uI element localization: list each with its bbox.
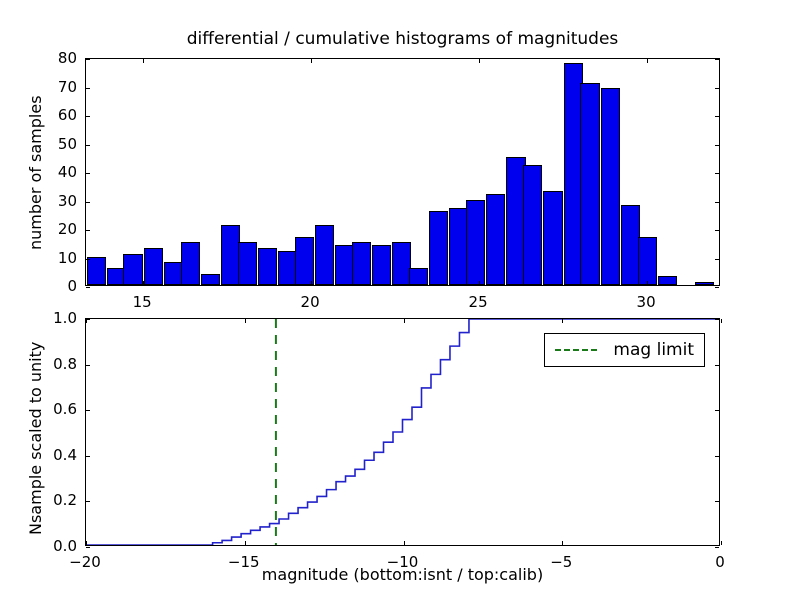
y-tick [715,501,719,502]
y-tick [86,547,90,548]
y-tick [715,365,719,366]
x-tick-label: 20 [301,293,320,311]
y-tick [715,173,719,174]
legend: mag limit [544,333,705,367]
y-tick [86,365,90,366]
x-tick-label: 25 [469,293,488,311]
x-tick [86,541,87,545]
histogram-bar [315,225,334,285]
x-tick [721,541,722,545]
y-tick [86,410,90,411]
x-tick [143,59,144,63]
x-tick [479,59,480,63]
histogram-bar [295,237,314,285]
histogram-bar [486,194,505,285]
y-tick [86,501,90,502]
x-tick [311,281,312,285]
histogram-bars-layer [86,59,719,285]
histogram-bar [372,245,391,285]
y-tick [715,319,719,320]
histogram-bar [144,248,163,285]
x-tick [647,59,648,63]
top-panel-y-axis-label: number of samples [26,95,45,250]
x-tick-label: 30 [637,293,656,311]
y-tick-label: 10 [31,249,77,267]
x-tick [311,59,312,63]
y-tick [715,202,719,203]
x-tick [479,281,480,285]
y-tick [715,287,719,288]
y-tick [715,116,719,117]
figure-canvas: differential / cumulative histograms of … [0,0,800,600]
y-tick-label: 0 [31,277,77,295]
y-tick-label: 0.0 [27,537,77,555]
y-tick [715,456,719,457]
y-tick-label: 70 [31,78,77,96]
y-tick [715,88,719,89]
histogram-bar [429,211,448,285]
histogram-bar [580,83,599,285]
x-tick [245,541,246,545]
y-tick [86,259,90,260]
y-tick [715,230,719,231]
bottom-panel-x-axis-label: magnitude (bottom:isnt / top:calib) [85,565,720,584]
bottom-panel-y-axis-label: Nsample scaled to unity [26,342,45,535]
x-tick [404,319,405,323]
mag-limit-legend-swatch [555,349,597,351]
y-tick [86,287,90,288]
x-tick [562,541,563,545]
y-tick-label: 1.0 [27,309,77,327]
histogram-bar [695,282,714,285]
y-tick [715,547,719,548]
cumulative-histogram-axes: mag limit [85,318,720,546]
histogram-bar [238,242,257,285]
x-tick [143,281,144,285]
y-tick [715,259,719,260]
x-tick-label: 15 [133,293,152,311]
y-tick [86,59,90,60]
histogram-bar [658,276,677,285]
differential-histogram-axes: differential / cumulative histograms of … [85,58,720,286]
x-tick [404,541,405,545]
y-tick [715,410,719,411]
y-tick [86,145,90,146]
histogram-bar [181,242,200,285]
histogram-bar [409,268,428,285]
histogram-bar [638,237,657,285]
y-tick [715,145,719,146]
y-tick-label: 80 [31,49,77,67]
histogram-bar [87,257,106,286]
histogram-bar [601,88,620,285]
y-tick [86,173,90,174]
y-tick [86,88,90,89]
histogram-bar [466,200,485,286]
histogram-bar [543,191,562,285]
histogram-bar [258,248,277,285]
histogram-bar [123,254,142,285]
y-tick [715,59,719,60]
histogram-bar [352,242,371,285]
x-tick [647,281,648,285]
x-tick [562,319,563,323]
mag-limit-legend-label: mag limit [613,340,694,360]
y-tick [86,230,90,231]
x-tick [721,319,722,323]
y-tick [86,319,90,320]
histogram-bar [201,274,220,285]
page-title: differential / cumulative histograms of … [86,29,719,49]
y-tick [86,202,90,203]
y-tick [86,456,90,457]
histogram-bar [523,165,542,285]
x-tick [245,319,246,323]
y-tick [86,116,90,117]
